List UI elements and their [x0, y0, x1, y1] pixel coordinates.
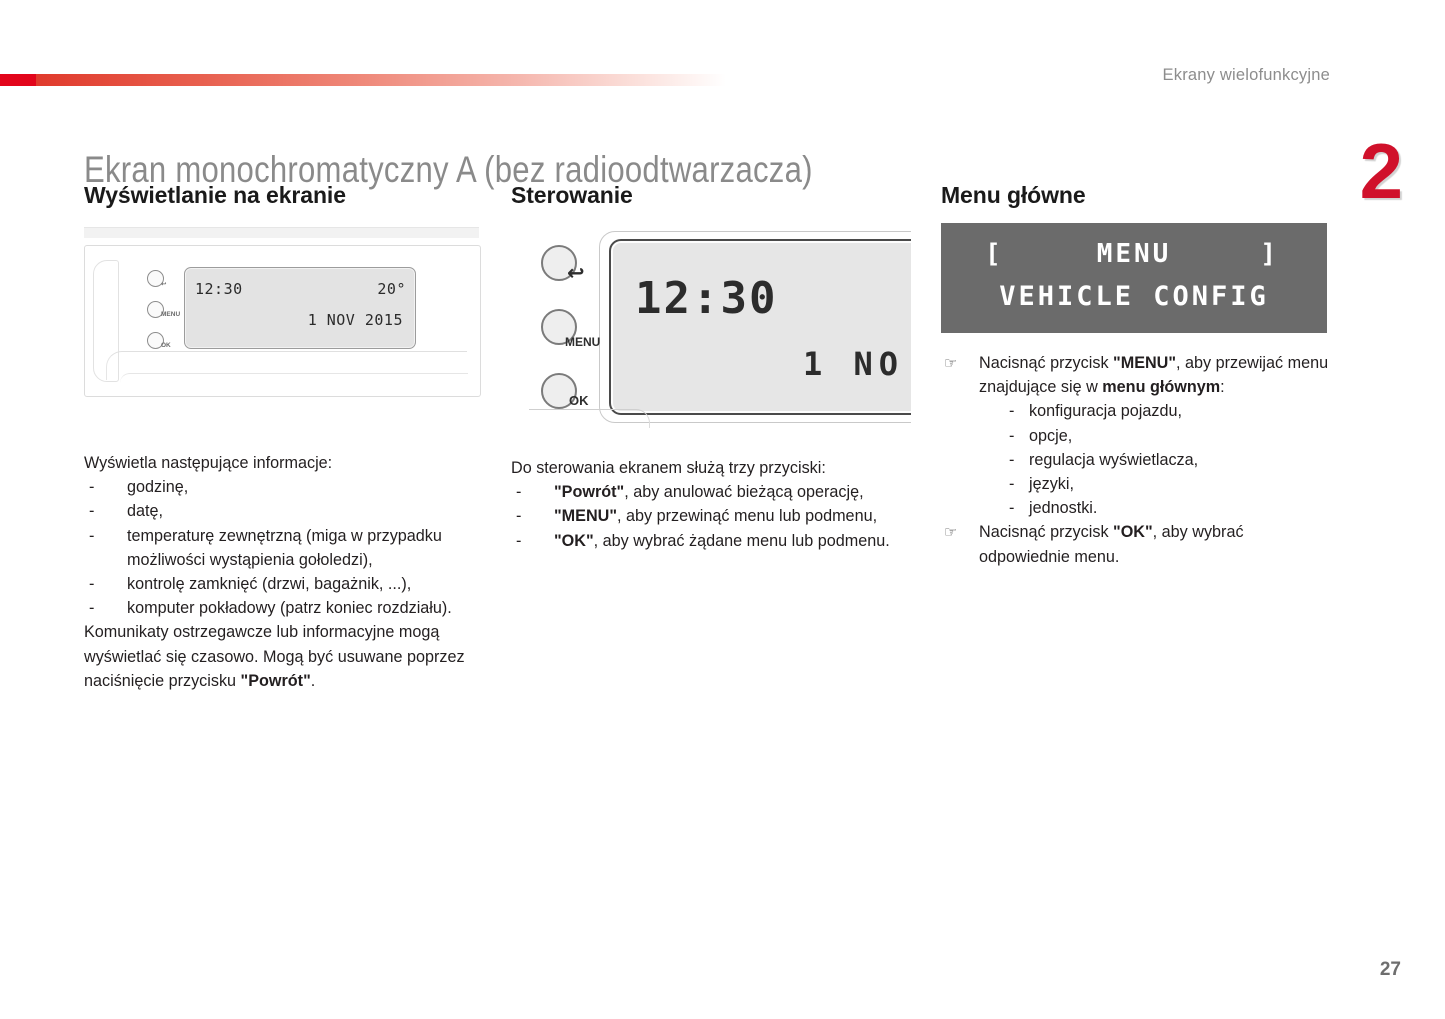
controls-lower-contour [529, 409, 650, 428]
running-head: Ekrany wielofunkcyjne [1163, 66, 1330, 85]
display-outro-end: . [311, 672, 316, 690]
accent-rule-gradient [36, 74, 726, 86]
list-item-label: konfiguracja pojazdu, [1029, 402, 1182, 420]
list-item-bold: "Powrót" [554, 483, 624, 501]
back-button-label: ↩ [161, 280, 166, 288]
dashboard-top-band [84, 227, 479, 238]
display-outro-bold: "Powrót" [241, 672, 311, 690]
lcd-bracket-right: ] [1260, 239, 1279, 269]
instruction-text-end: : [1220, 378, 1225, 396]
dash-marker: - [1009, 472, 1014, 496]
list-item: -datę, [84, 499, 484, 523]
controls-intro: Do sterowania ekranem służą trzy przycis… [511, 456, 911, 480]
dash-marker: - [89, 572, 94, 596]
dashboard-button-cluster: ↩ MENU OK [147, 270, 164, 363]
section-heading-controls: Sterowanie [511, 182, 911, 209]
list-item-label: , aby anulować bieżącą operację, [624, 483, 863, 501]
main-menu-lcd-screen: [ MENU ] VEHICLE CONFIG [941, 223, 1327, 333]
dash-marker: - [89, 475, 94, 499]
ok-button-glyph: OK [541, 373, 577, 409]
dash-marker: - [1009, 424, 1014, 448]
main-menu-instruction-list: ☞ Nacisnąć przycisk "MENU", aby przewija… [941, 351, 1331, 569]
list-item: ☞ Nacisnąć przycisk "MENU", aby przewija… [941, 351, 1331, 520]
list-item-label: jednostki. [1029, 499, 1097, 517]
list-item: -godzinę, [84, 475, 484, 499]
lcd-time: 12:30 [635, 273, 777, 324]
list-item-label: godzinę, [127, 478, 188, 496]
dashboard-lcd-screen: 12:30 20° 1 NOV 2015 [184, 267, 416, 349]
lcd-date: 1 NO [803, 345, 904, 383]
ok-button-label: OK [161, 342, 171, 349]
section-main-menu: Menu główne [ MENU ] VEHICLE CONFIG ☞ Na… [941, 182, 1331, 569]
menu-button-glyph: MENU [147, 301, 164, 318]
list-item-label: datę, [127, 502, 163, 520]
list-item: -konfiguracja pojazdu, [1009, 399, 1331, 423]
instruction-text: Nacisnąć przycisk [979, 354, 1113, 372]
dash-marker: - [516, 529, 521, 553]
list-item: ☞ Nacisnąć przycisk "OK", aby wybrać odp… [941, 520, 1331, 568]
instruction-bold-ok: "OK" [1113, 523, 1153, 541]
controls-lcd-screen: 12:30 1 NO [609, 239, 911, 415]
menu-button-label: MENU [565, 335, 600, 349]
list-item-label: kontrolę zamknięć (drzwi, bagażnik, ...)… [127, 575, 411, 593]
menu-button-glyph: MENU [541, 309, 577, 345]
dashboard-lower-contour-2 [120, 373, 468, 390]
lcd-selected-entry: VEHICLE CONFIG [941, 281, 1327, 312]
list-item: -jednostki. [1009, 496, 1331, 520]
menu-button-label: MENU [161, 311, 180, 318]
main-menu-body-copy: ☞ Nacisnąć przycisk "MENU", aby przewija… [941, 351, 1331, 569]
controls-body-copy: Do sterowania ekranem służą trzy przycis… [511, 456, 911, 553]
display-outro: Komunikaty ostrzegawcze lub informacyjne… [84, 620, 484, 693]
display-intro: Wyświetla następujące informacje: [84, 451, 484, 475]
list-item: -temperaturę zewnętrzną (miga w przypadk… [84, 524, 484, 572]
list-item: -"Powrót", aby anulować bieżącą operację… [511, 480, 911, 504]
header-accent-rule [0, 74, 726, 86]
back-button-label: ↩ [567, 261, 585, 286]
dash-marker: - [89, 524, 94, 548]
display-body-copy: Wyświetla następujące informacje: -godzi… [84, 451, 484, 693]
dashboard-illustration: ↩ MENU OK 12:30 20° 1 NOV 2015 [84, 223, 484, 423]
dash-marker: - [1009, 448, 1014, 472]
list-item-label: , aby przewinąć menu lub podmenu, [617, 507, 877, 525]
back-button-glyph: ↩ [147, 270, 164, 287]
list-item-label: języki, [1029, 475, 1074, 493]
list-item: -"OK", aby wybrać żądane menu lub podmen… [511, 529, 911, 553]
instruction-bold-menu: "MENU" [1113, 354, 1176, 372]
main-menu-sub-list: -konfiguracja pojazdu, -opcje, -regulacj… [979, 399, 1331, 520]
list-item: -regulacja wyświetlacza, [1009, 448, 1331, 472]
lcd-temperature: 20° [377, 280, 406, 298]
list-item-label: komputer pokładowy (patrz koniec rozdzia… [127, 599, 452, 617]
dash-marker: - [516, 504, 521, 528]
display-item-list: -godzinę, -datę, -temperaturę zewnętrzną… [84, 475, 484, 620]
pointing-hand-icon: ☞ [944, 521, 957, 545]
controls-button-cluster: ↩ MENU OK [541, 245, 577, 428]
list-item-label: temperaturę zewnętrzną (miga w przypadku… [127, 527, 442, 569]
list-item: -opcje, [1009, 424, 1331, 448]
list-item-bold: "MENU" [554, 507, 617, 525]
list-item: -"MENU", aby przewinąć menu lub podmenu, [511, 504, 911, 528]
section-heading-main-menu: Menu główne [941, 182, 1331, 209]
dash-marker: - [516, 480, 521, 504]
pointing-hand-icon: ☞ [944, 352, 957, 376]
list-item-label: regulacja wyświetlacza, [1029, 451, 1198, 469]
controls-illustration: 12:30 1 NO ↩ MENU OK [511, 223, 911, 428]
list-item: -kontrolę zamknięć (drzwi, bagażnik, ...… [84, 572, 484, 596]
accent-rule-solid [0, 74, 36, 86]
lcd-date: 1 NOV 2015 [308, 311, 403, 329]
dash-marker: - [89, 499, 94, 523]
controls-item-list: -"Powrót", aby anulować bieżącą operację… [511, 480, 911, 553]
section-controls: Sterowanie 12:30 1 NO ↩ MENU OK Do stero… [511, 182, 911, 553]
lcd-time: 12:30 [195, 280, 243, 298]
section-display: Wyświetlanie na ekranie ↩ MENU OK 12:30 … [84, 182, 484, 693]
dash-marker: - [1009, 399, 1014, 423]
dash-marker: - [1009, 496, 1014, 520]
list-item: -komputer pokładowy (patrz koniec rozdzi… [84, 596, 484, 620]
list-item-bold: "OK" [554, 532, 594, 550]
list-item: -języki, [1009, 472, 1331, 496]
ok-button-label: OK [569, 393, 589, 408]
ok-button-glyph: OK [147, 332, 164, 349]
list-item-label: , aby wybrać żądane menu lub podmenu. [594, 532, 890, 550]
page-number: 27 [1380, 959, 1401, 981]
section-heading-display: Wyświetlanie na ekranie [84, 182, 484, 209]
chapter-number-tab: 2 [1360, 132, 1403, 210]
dash-marker: - [89, 596, 94, 620]
back-button-glyph: ↩ [541, 245, 577, 281]
instruction-bold-main-menu: menu głównym [1102, 378, 1220, 396]
instruction-text: Nacisnąć przycisk [979, 523, 1113, 541]
list-item-label: opcje, [1029, 427, 1072, 445]
